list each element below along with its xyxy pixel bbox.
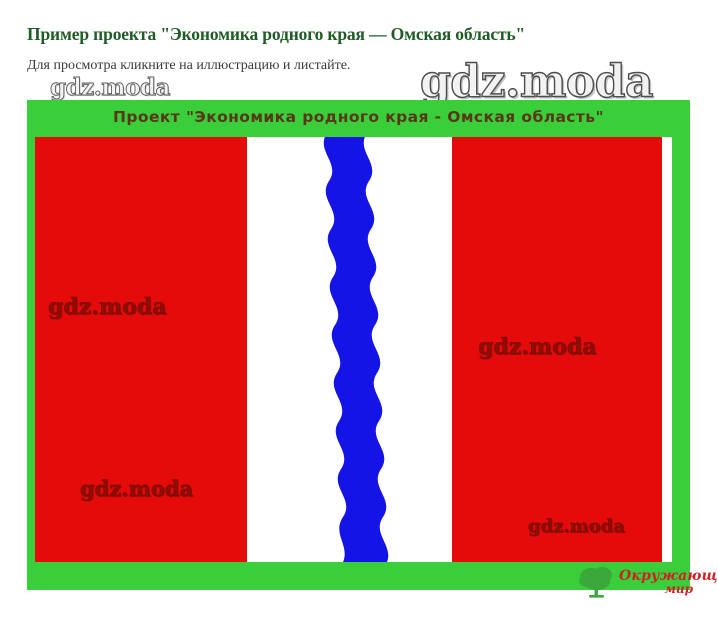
logo-text-line-2: мир — [619, 583, 718, 595]
watermark-flag-right-upper: gdz.moda — [478, 334, 597, 360]
watermark-flag-left-lower: gdz.moda — [80, 476, 193, 501]
page-title: Пример проекта "Экономика родного края —… — [27, 24, 687, 45]
logo-text-line-1: Окружающий — [619, 569, 718, 583]
logo-text: Окружающий мир — [619, 569, 718, 595]
page-instruction-text: Для просмотра кликните на иллюстрацию и … — [27, 58, 350, 74]
okruzhayushchiy-mir-logo[interactable]: Окружающий мир — [579, 562, 718, 602]
watermark-flag-right-lower: gdz.moda — [528, 516, 625, 537]
tree-icon — [579, 565, 615, 599]
flag-wavy-blue-stripe — [305, 137, 405, 562]
illustration-title: Проект "Экономика родного края - Омская … — [27, 108, 690, 126]
watermark-flag-left-upper: gdz.moda — [48, 294, 167, 320]
watermark-top-left: gdz.moda — [50, 74, 170, 101]
